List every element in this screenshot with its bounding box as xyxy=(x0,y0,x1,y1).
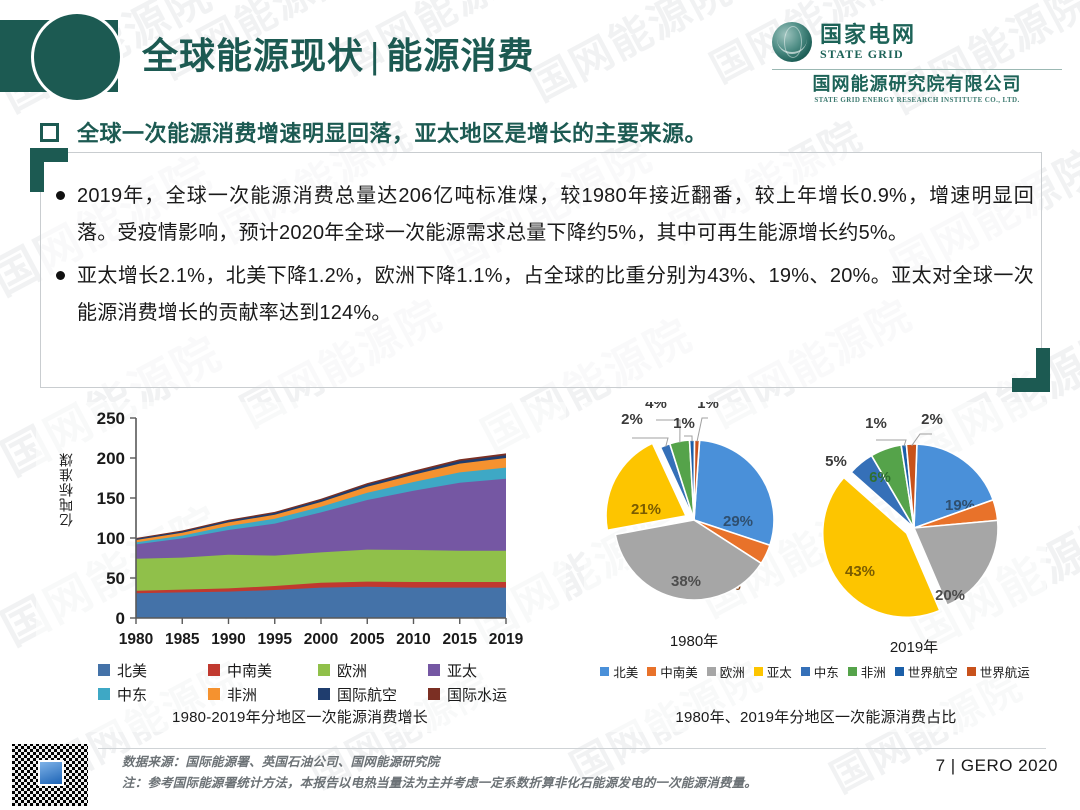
svg-text:1985: 1985 xyxy=(165,631,200,648)
bullet-list: 2019年，全球一次能源消费总量达206亿吨标准煤，较1980年接近翻番，较上年… xyxy=(56,178,1034,338)
legend-swatch xyxy=(801,667,810,676)
legend-item: 欧洲 xyxy=(318,658,428,682)
legend-item: 北美 xyxy=(600,662,638,681)
legend-label: 世界航空 xyxy=(908,662,958,681)
svg-text:2010: 2010 xyxy=(396,631,430,648)
svg-text:2%: 2% xyxy=(921,411,943,428)
svg-text:29%: 29% xyxy=(723,513,753,530)
svg-text:250: 250 xyxy=(97,409,125,428)
bullet-text: 亚太增长2.1%，北美下降1.2%，欧洲下降1.1%，占全球的比重分别为43%、… xyxy=(77,258,1034,332)
svg-text:2%: 2% xyxy=(621,411,643,428)
legend-swatch xyxy=(600,667,609,676)
bullet-dot-icon xyxy=(56,191,65,200)
header-circle-logo xyxy=(34,14,120,100)
pie-charts: 29%4%38%21%2%4%1%1% 19%4%20%43%5%6%1%2% … xyxy=(584,402,1046,732)
svg-text:6%: 6% xyxy=(869,469,891,486)
legend-item: 非洲 xyxy=(848,662,886,681)
section-heading: 全球一次能源消费增速明显回落，亚太地区是增长的主要来源。 xyxy=(40,116,707,148)
legend-label: 非洲 xyxy=(861,662,886,681)
section-heading-text: 全球一次能源消费增速明显回落，亚太地区是增长的主要来源。 xyxy=(77,116,707,148)
legend-item: 欧洲 xyxy=(707,662,745,681)
legend-label: 北美 xyxy=(117,660,147,681)
legend-swatch xyxy=(318,688,330,700)
brand-logo: 国家电网 STATE GRID 国网能源研究院有限公司 STATE GRID E… xyxy=(772,20,1062,104)
area-chart-svg: 050100150200250 198019851990199520002005… xyxy=(36,402,566,652)
legend-label: 中南美 xyxy=(227,660,272,681)
pie-chart-legend: 北美中南美欧洲亚太中东非洲世界航空世界航运 xyxy=(584,662,1046,681)
svg-text:38%: 38% xyxy=(671,573,701,590)
area-chart-ylabel: 亿吨标准煤 xyxy=(56,452,76,527)
svg-text:2015: 2015 xyxy=(443,631,478,648)
legend-item: 亚太 xyxy=(428,658,538,682)
svg-text:50: 50 xyxy=(106,569,125,588)
legend-swatch xyxy=(647,667,656,676)
pie-chart-2019: 19%4%20%43%5%6%1%2% xyxy=(823,411,998,617)
pie-charts-svg: 29%4%38%21%2%4%1%1% 19%4%20%43%5%6%1%2% … xyxy=(584,402,1046,658)
footer-divider xyxy=(98,748,1046,749)
chart-captions: 1980-2019年分地区一次能源消费增长 1980年、2019年分地区一次能源… xyxy=(36,706,1046,732)
pie-chart-1980: 29%4%38%21%2%4%1%1% xyxy=(606,402,774,600)
qr-code[interactable] xyxy=(12,744,88,806)
legend-item: 亚太 xyxy=(754,662,792,681)
pie-1980-year-label: 1980年 xyxy=(670,633,718,650)
brand-name-en: STATE GRID xyxy=(820,47,916,61)
legend-item: 国际水运 xyxy=(428,682,538,706)
charts-region: 050100150200250 198019851990199520002005… xyxy=(36,402,1046,732)
legend-item: 北美 xyxy=(98,658,208,682)
legend-item: 世界航空 xyxy=(895,662,958,681)
area-chart-legend: 北美中南美欧洲亚太中东非洲国际航空国际水运 xyxy=(98,658,538,706)
legend-swatch xyxy=(208,664,220,676)
corner-bracket-bottom-right xyxy=(1012,348,1050,392)
legend-item: 世界航运 xyxy=(967,662,1030,681)
legend-swatch xyxy=(848,667,857,676)
legend-item: 国际航空 xyxy=(318,682,428,706)
caption-left: 1980-2019年分地区一次能源消费增长 xyxy=(80,706,520,727)
svg-text:1%: 1% xyxy=(673,415,695,432)
footer-notes: 数据来源：国际能源署、英国石油公司、国网能源研究院 注：参考国际能源署统计方法，… xyxy=(122,752,757,794)
page-number: 7 | GERO 2020 xyxy=(936,756,1058,776)
legend-swatch xyxy=(707,667,716,676)
square-bullet-icon xyxy=(40,123,59,142)
legend-label: 欧洲 xyxy=(337,660,367,681)
legend-label: 中东 xyxy=(814,662,839,681)
legend-label: 中南美 xyxy=(660,662,698,681)
svg-text:100: 100 xyxy=(97,529,125,548)
legend-label: 中东 xyxy=(117,684,147,705)
page-title: 全球能源现状|能源消费 xyxy=(142,22,534,90)
page-title-sub: 能源消费 xyxy=(386,35,534,76)
legend-swatch xyxy=(754,667,763,676)
legend-label: 国际水运 xyxy=(447,684,507,705)
page-title-separator: | xyxy=(364,35,386,76)
svg-text:150: 150 xyxy=(97,489,125,508)
legend-label: 亚太 xyxy=(447,660,477,681)
svg-text:1995: 1995 xyxy=(258,631,293,648)
legend-swatch xyxy=(98,688,110,700)
legend-label: 世界航运 xyxy=(980,662,1030,681)
caption-right: 1980年、2019年分地区一次能源消费占比 xyxy=(596,706,1036,727)
legend-item: 非洲 xyxy=(208,682,318,706)
pie-2019-year-label: 2019年 xyxy=(890,639,938,656)
brand-divider xyxy=(772,69,1062,70)
area-chart: 050100150200250 198019851990199520002005… xyxy=(36,402,566,732)
svg-text:43%: 43% xyxy=(845,563,875,580)
list-item: 2019年，全球一次能源消费总量达206亿吨标准煤，较1980年接近翻番，较上年… xyxy=(56,178,1034,252)
footer-note: 注：参考国际能源署统计方法，本报告以电热当量法为主并考虑一定系数折算非化石能源发… xyxy=(122,773,757,794)
svg-text:1990: 1990 xyxy=(211,631,245,648)
svg-text:1%: 1% xyxy=(865,415,887,432)
svg-text:20%: 20% xyxy=(935,587,965,604)
legend-swatch xyxy=(318,664,330,676)
legend-swatch xyxy=(428,664,440,676)
page-title-main: 全球能源现状 xyxy=(142,35,364,76)
globe-icon xyxy=(772,22,812,62)
legend-swatch xyxy=(428,688,440,700)
legend-label: 欧洲 xyxy=(720,662,745,681)
svg-text:200: 200 xyxy=(97,449,125,468)
legend-swatch xyxy=(98,664,110,676)
legend-item: 中南美 xyxy=(208,658,318,682)
svg-text:5%: 5% xyxy=(825,453,847,470)
institute-name-en: STATE GRID ENERGY RESEARCH INSTITUTE CO.… xyxy=(772,95,1062,105)
svg-text:0: 0 xyxy=(116,609,125,628)
legend-label: 亚太 xyxy=(767,662,792,681)
svg-text:21%: 21% xyxy=(631,501,661,518)
legend-label: 国际航空 xyxy=(337,684,397,705)
brand-stategrid: 国家电网 STATE GRID xyxy=(772,20,1062,64)
legend-item: 中南美 xyxy=(647,662,698,681)
institute-name-cn: 国网能源研究院有限公司 xyxy=(772,74,1062,95)
corner-bracket-top-left xyxy=(30,148,68,192)
list-item: 亚太增长2.1%，北美下降1.2%，欧洲下降1.1%，占全球的比重分别为43%、… xyxy=(56,258,1034,332)
svg-text:2000: 2000 xyxy=(304,631,338,648)
svg-text:2005: 2005 xyxy=(350,631,385,648)
svg-text:2019: 2019 xyxy=(489,631,524,648)
svg-text:4%: 4% xyxy=(645,402,667,412)
bullet-text: 2019年，全球一次能源消费总量达206亿吨标准煤，较1980年接近翻番，较上年… xyxy=(77,178,1034,252)
slide-header: 全球能源现状|能源消费 国家电网 STATE GRID 国网能源研究院有限公司 … xyxy=(0,8,1080,104)
slide-root: 国网能源院国网能源院国网能源院国网能源院国网能源院国网能源院国网能源院国网能源院… xyxy=(0,0,1080,810)
legend-label: 非洲 xyxy=(227,684,257,705)
svg-text:1%: 1% xyxy=(697,402,719,412)
legend-item: 中东 xyxy=(98,682,208,706)
svg-text:1980: 1980 xyxy=(119,631,153,648)
legend-item: 中东 xyxy=(801,662,839,681)
legend-swatch xyxy=(967,667,976,676)
bullet-dot-icon xyxy=(56,271,65,280)
legend-label: 北美 xyxy=(613,662,638,681)
legend-swatch xyxy=(208,688,220,700)
footer-source: 数据来源：国际能源署、英国石油公司、国网能源研究院 xyxy=(122,752,757,773)
brand-name-cn: 国家电网 xyxy=(820,23,916,47)
legend-swatch xyxy=(895,667,904,676)
